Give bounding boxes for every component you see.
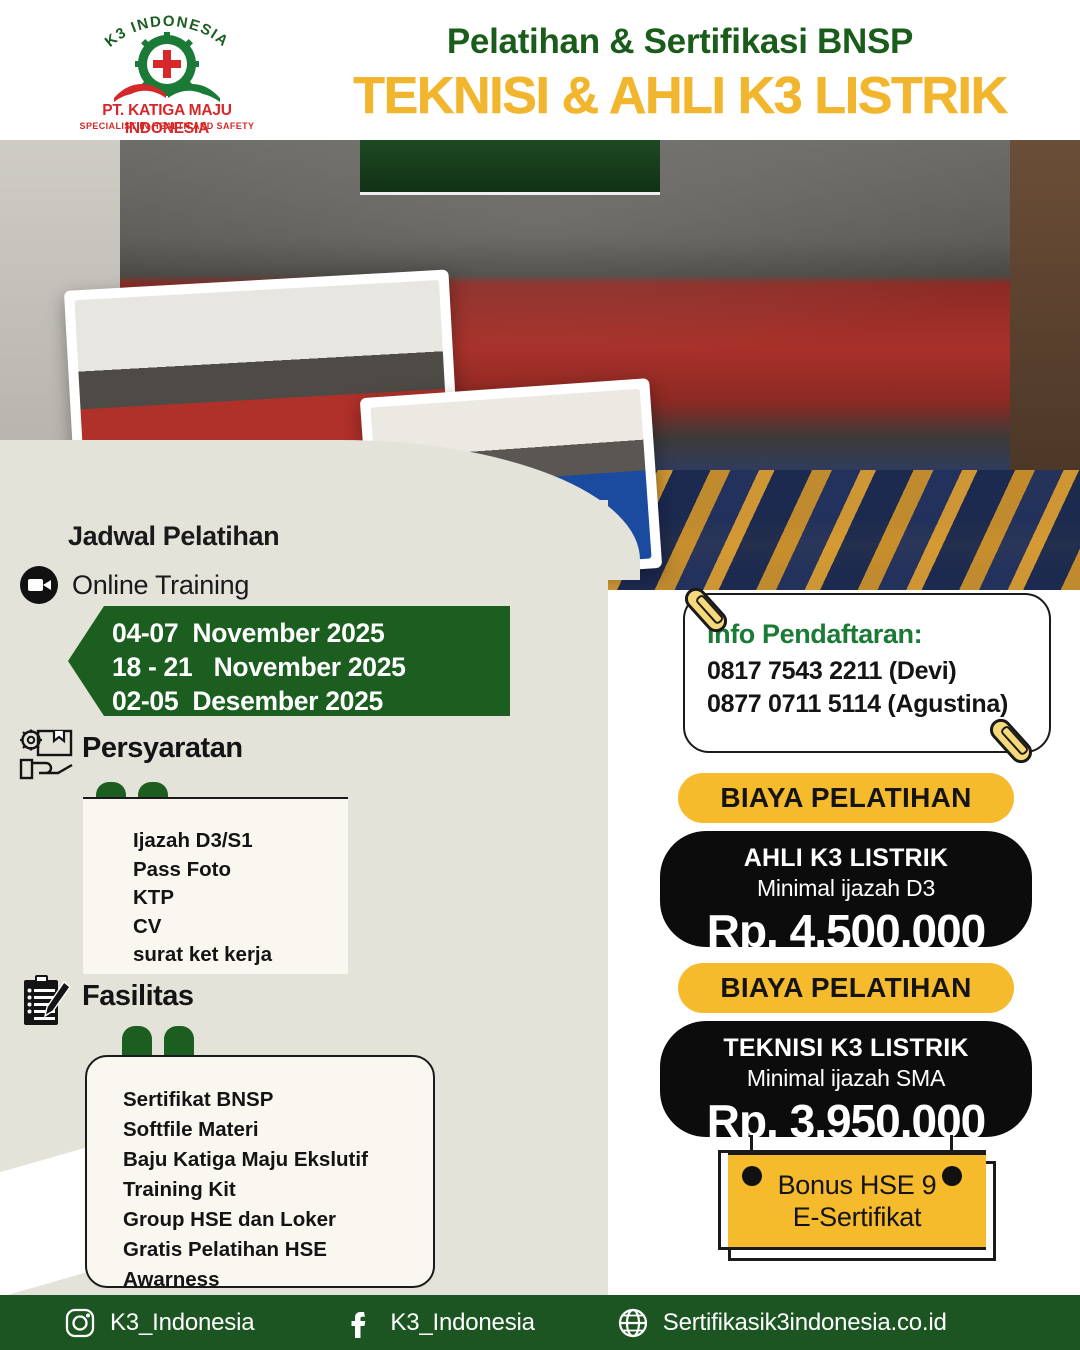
price-amount: Rp. 4.500.000 [660,904,1032,958]
training-mode-row: Online Training [20,566,249,604]
schedule-date: 18 - 21 November 2025 [112,650,510,684]
list-item: Awarness [123,1265,368,1295]
list-item: Baju Katiga Maju Ekslutif [123,1145,368,1175]
footer-facebook-handle: K3_Indonesia [390,1309,534,1337]
price-card-ahli: AHLI K3 LISTRIK Minimal ijazah D3 Rp. 4.… [660,831,1032,947]
footer-instagram-handle: K3_Indonesia [110,1309,254,1337]
price-badge-label: BIAYA PELATIHAN [720,782,971,814]
price-program-name: AHLI K3 LISTRIK [660,844,1032,873]
schedule-date: 04-07 November 2025 [112,616,510,650]
training-mode-label: Online Training [72,570,249,601]
company-logo: K3 INDONESIA [72,8,262,133]
poster-subtitle: Pelatihan & Sertifikasi BNSP [300,22,1060,62]
list-item: Gratis Pelatihan HSE [123,1235,368,1265]
clipboard-pen-icon [20,974,72,1028]
poster-title: TEKNISI & AHLI K3 LISTRIK [290,66,1070,126]
schedule-dates-box: 04-07 November 2025 18 - 21 November 202… [68,606,510,716]
list-item: Ijazah D3/S1 [133,827,272,856]
schedule-date: 02-05 Desember 2025 [112,684,510,718]
bonus-line-1: Bonus HSE 9 [778,1169,937,1201]
list-item: Training Kit [123,1175,368,1205]
facilities-heading: Fasilitas [82,980,194,1013]
list-item: Softfile Materi [123,1115,368,1145]
list-item: CV [133,913,272,942]
price-badge-teknisi: BIAYA PELATIHAN [678,963,1014,1013]
bonus-pin-dot [742,1166,762,1186]
registration-phone-devi[interactable]: 0817 7543 2211 (Devi) [707,657,956,686]
logo-company-name: PT. KATIGA MAJU INDONESIA [72,102,262,138]
schedule-heading: Jadwal Pelatihan [68,521,279,552]
facilities-list: Sertifikat BNSP Softfile Materi Baju Kat… [123,1085,368,1295]
logo-tagline: SPECIALIST IN HEALTH AND SAFETY [72,121,262,131]
price-requirement: Minimal ijazah SMA [660,1065,1032,1092]
video-camera-icon [20,566,58,604]
price-program-name: TEKNISI K3 LISTRIK [660,1034,1032,1063]
registration-title: Info Pendaftaran: [707,619,922,650]
list-item: KTP [133,884,272,913]
footer-facebook[interactable]: K3_Indonesia [344,1307,534,1339]
poster-footer: K3_Indonesia K3_Indonesia Sertifikasik3i… [0,1295,1080,1350]
poster-header: K3 INDONESIA [0,0,1080,140]
footer-website-url: Sertifikasik3indonesia.co.id [663,1309,947,1337]
list-item: Sertifikat BNSP [123,1085,368,1115]
requirements-card: Ijazah D3/S1 Pass Foto KTP CV surat ket … [83,797,348,974]
globe-icon [617,1307,649,1339]
price-badge-ahli: BIAYA PELATIHAN [678,773,1014,823]
list-item: Pass Foto [133,856,272,885]
bonus-pin-dot [942,1166,962,1186]
facebook-icon [344,1307,376,1339]
instagram-icon [64,1307,96,1339]
list-item: surat ket kerja [133,941,272,970]
certificate-in-hand-icon [18,728,76,780]
bonus-line-2: E-Sertifikat [793,1201,921,1233]
price-amount: Rp. 3.950.000 [660,1094,1032,1148]
requirements-heading: Persyaratan [82,732,243,765]
open-book-icon [112,72,222,104]
footer-website[interactable]: Sertifikasik3indonesia.co.id [617,1307,947,1339]
price-card-teknisi: TEKNISI K3 LISTRIK Minimal ijazah SMA Rp… [660,1021,1032,1137]
price-badge-label: BIAYA PELATIHAN [720,972,971,1004]
registration-phone-agustina[interactable]: 0877 0711 5114 (Agustina) [707,690,1008,719]
price-requirement: Minimal ijazah D3 [660,875,1032,902]
footer-instagram[interactable]: K3_Indonesia [64,1307,254,1339]
facilities-card: Sertifikat BNSP Softfile Materi Baju Kat… [85,1055,435,1288]
list-item: Group HSE dan Loker [123,1205,368,1235]
requirements-list: Ijazah D3/S1 Pass Foto KTP CV surat ket … [133,827,272,970]
